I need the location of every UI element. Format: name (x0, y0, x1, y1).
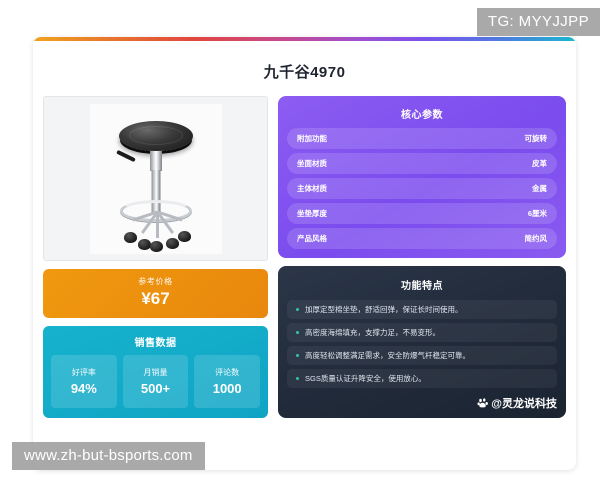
stat-tile: 月销量 500+ (123, 355, 189, 408)
price-label: 参考价格 (43, 276, 268, 287)
spec-row: 附加功能 可旋转 (287, 128, 557, 149)
bullet-dot-icon (296, 377, 299, 380)
spec-row: 坐面材质 皮革 (287, 153, 557, 174)
feature-text: 高密度海绵填充，支撑力足，不易变形。 (305, 328, 440, 337)
price-value: ¥67 (43, 289, 268, 309)
spec-label: 产品风格 (297, 233, 327, 244)
stool-upper-post-icon (150, 151, 162, 171)
right-column: 核心参数 附加功能 可旋转 坐面材质 皮革 主体材质 金属 坐垫厚度 6厘米 (278, 96, 566, 418)
spec-row: 坐垫厚度 6厘米 (287, 203, 557, 224)
specs-title: 核心参数 (287, 103, 557, 128)
stool-base-icon (90, 208, 222, 254)
features-title: 功能特点 (287, 274, 557, 300)
stat-value: 500+ (123, 381, 189, 396)
stat-label: 评论数 (194, 367, 260, 378)
watermark-text: @灵龙说科技 (491, 395, 557, 411)
stat-tile: 好评率 94% (51, 355, 117, 408)
spec-value: 金属 (532, 183, 547, 194)
features-card: 功能特点 加厚定型棉坐垫，舒适回弹，保证长时间使用。 高密度海绵填充，支撑力足，… (278, 266, 566, 418)
feature-item: 加厚定型棉坐垫，舒适回弹，保证长时间使用。 (287, 300, 557, 319)
spec-label: 坐垫厚度 (297, 208, 327, 219)
specs-card: 核心参数 附加功能 可旋转 坐面材质 皮革 主体材质 金属 坐垫厚度 6厘米 (278, 96, 566, 258)
spec-label: 附加功能 (297, 133, 327, 144)
stool-lever-icon (116, 149, 136, 161)
spec-label: 坐面材质 (297, 158, 327, 169)
product-image[interactable] (43, 96, 268, 261)
feature-item: 高度轻松调整满足需求，安全防爆气杆稳定可靠。 (287, 346, 557, 365)
left-column: 参考价格 ¥67 销售数据 好评率 94% 月销量 500+ 评论数 (43, 96, 268, 418)
sales-stat-row: 好评率 94% 月销量 500+ 评论数 1000 (51, 355, 260, 408)
site-url-badge: www.zh-but-bsports.com (12, 442, 205, 470)
stool-seat-icon (119, 121, 193, 151)
feature-item: SGS质量认证升降安全，使用放心。 (287, 369, 557, 388)
spec-value: 简约风 (525, 233, 548, 244)
stat-tile: 评论数 1000 (194, 355, 260, 408)
bullet-dot-icon (296, 331, 299, 334)
stool-illustration (90, 104, 222, 254)
sales-title: 销售数据 (51, 332, 260, 355)
bullet-dot-icon (296, 354, 299, 357)
spec-value: 皮革 (532, 158, 547, 169)
page-title: 九千谷4970 (33, 41, 576, 96)
feature-text: SGS质量认证升降安全，使用放心。 (305, 374, 426, 383)
paw-logo-icon (477, 397, 489, 409)
bullet-dot-icon (296, 308, 299, 311)
sales-card: 销售数据 好评率 94% 月销量 500+ 评论数 1000 (43, 326, 268, 418)
feature-text: 高度轻松调整满足需求，安全防爆气杆稳定可靠。 (305, 351, 470, 360)
price-card: 参考价格 ¥67 (43, 269, 268, 318)
stat-value: 1000 (194, 381, 260, 396)
stat-label: 好评率 (51, 367, 117, 378)
spec-value: 可旋转 (525, 133, 548, 144)
spec-row: 主体材质 金属 (287, 178, 557, 199)
spec-row: 产品风格 简约风 (287, 228, 557, 249)
product-card: 九千谷4970 (33, 37, 576, 470)
watermark: @灵龙说科技 (477, 395, 557, 411)
stat-value: 94% (51, 381, 117, 396)
telegram-handle-badge: TG: MYYJJPP (477, 8, 600, 36)
feature-item: 高密度海绵填充，支撑力足，不易变形。 (287, 323, 557, 342)
spec-label: 主体材质 (297, 183, 327, 194)
content-grid: 参考价格 ¥67 销售数据 好评率 94% 月销量 500+ 评论数 (33, 96, 576, 418)
feature-text: 加厚定型棉坐垫，舒适回弹，保证长时间使用。 (305, 305, 463, 314)
spec-value: 6厘米 (528, 208, 547, 219)
stat-label: 月销量 (123, 367, 189, 378)
